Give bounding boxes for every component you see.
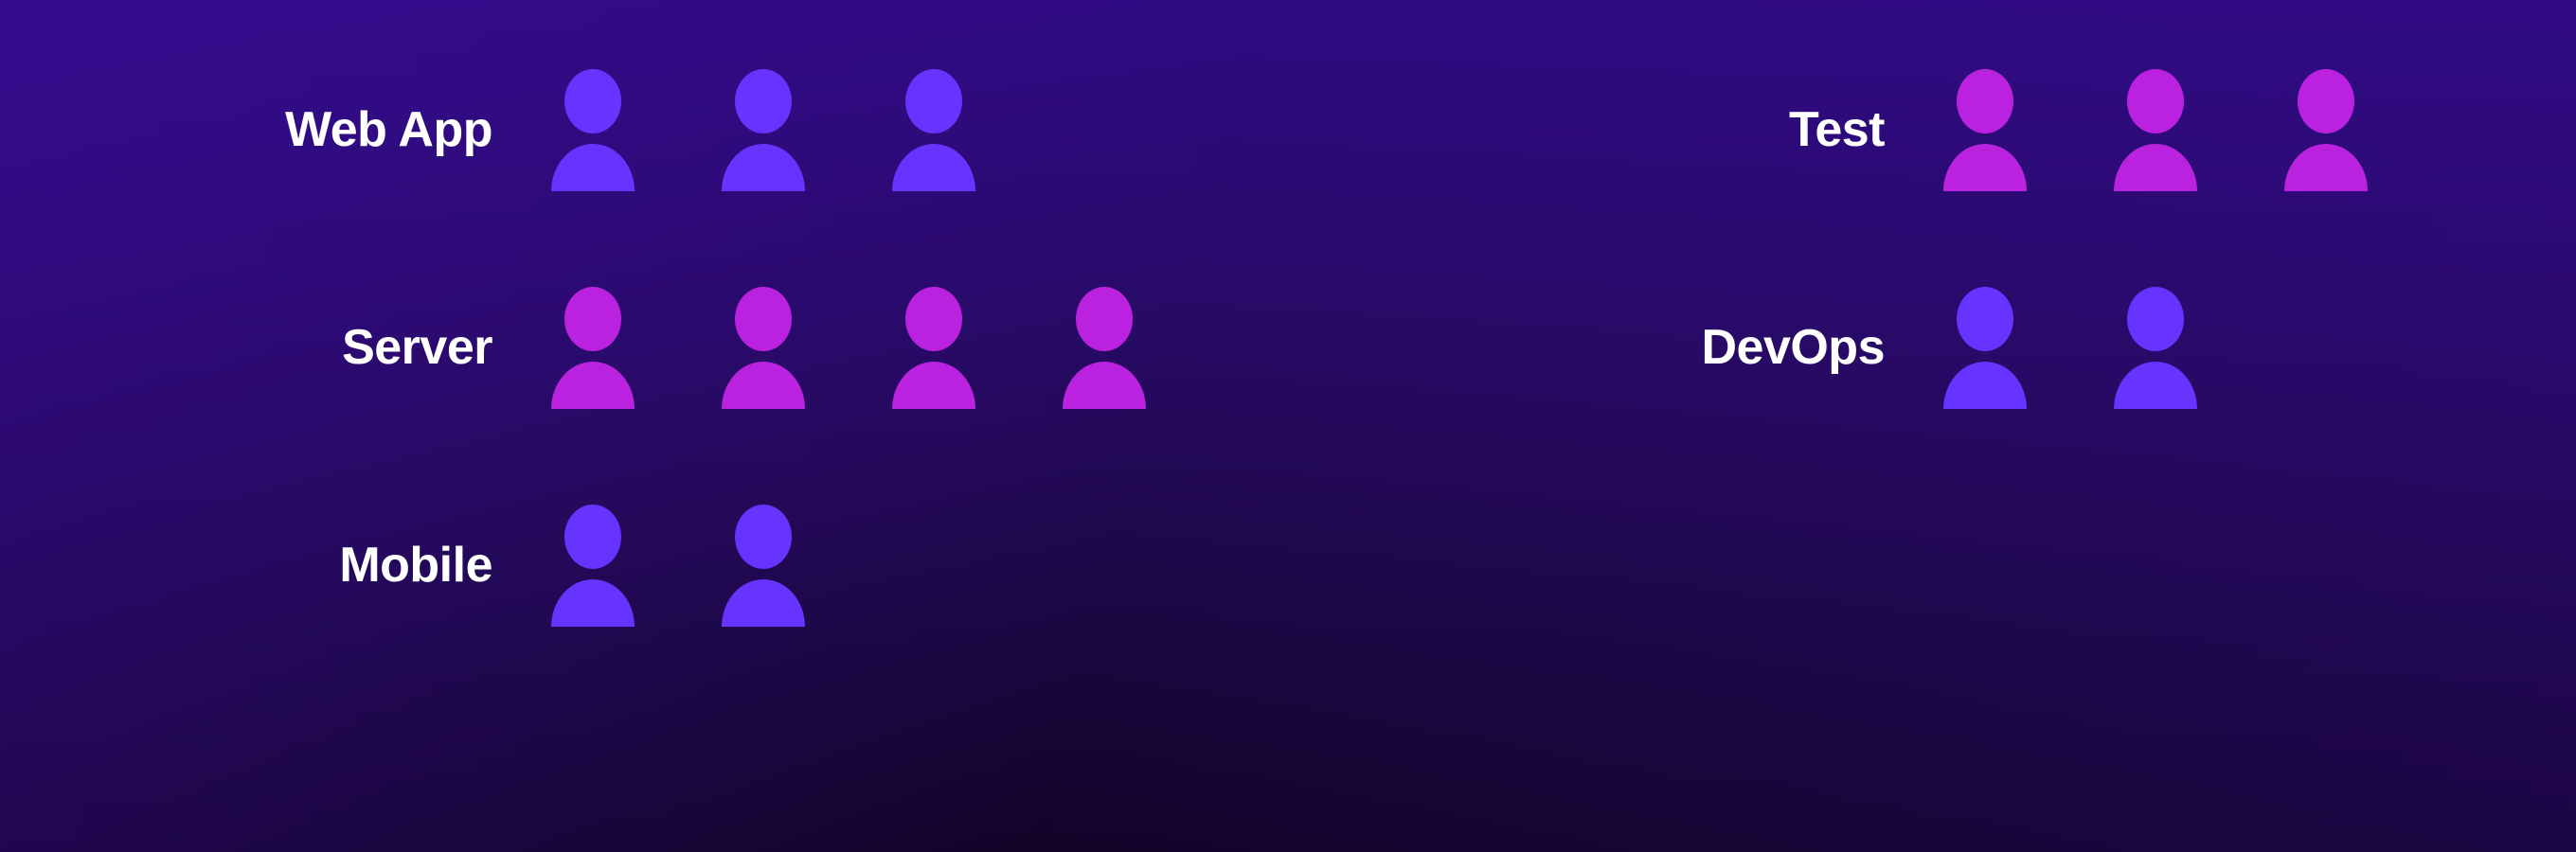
person-head — [2127, 287, 2184, 351]
person-head — [905, 69, 962, 133]
person-icon — [2112, 68, 2282, 191]
person-icon — [890, 68, 1061, 191]
person-body — [551, 144, 635, 191]
row-label: Test — [1601, 105, 1941, 154]
person-icon — [720, 68, 890, 191]
person-body — [722, 144, 805, 191]
person-body — [551, 579, 635, 627]
person-icon — [2112, 286, 2282, 409]
person-icon — [549, 68, 720, 191]
row-icons — [549, 286, 1231, 409]
person-icon — [720, 504, 890, 627]
person-glyph — [1941, 286, 2029, 409]
person-body — [722, 579, 805, 627]
pictogram-row: Mobile — [180, 504, 1231, 627]
person-head — [564, 287, 621, 351]
person-body — [2114, 144, 2197, 191]
person-body — [1943, 144, 2027, 191]
person-body — [1943, 362, 2027, 409]
group-left-group: Web App Server Mobile — [180, 68, 1231, 627]
row-label: DevOps — [1601, 323, 1941, 372]
person-icon — [2282, 68, 2453, 191]
person-icon — [720, 286, 890, 409]
person-icon — [1061, 286, 1231, 409]
person-head — [905, 287, 962, 351]
person-body — [1063, 362, 1146, 409]
person-body — [892, 144, 975, 191]
person-head — [1957, 69, 2013, 133]
row-icons — [549, 68, 1061, 191]
person-icon — [549, 286, 720, 409]
person-body — [722, 362, 805, 409]
person-head — [735, 505, 792, 569]
pictogram-row: Test — [1601, 68, 2453, 191]
row-label: Web App — [180, 105, 549, 154]
person-glyph — [720, 68, 807, 191]
person-glyph — [549, 68, 636, 191]
person-glyph — [549, 286, 636, 409]
pictogram-row: Web App — [180, 68, 1231, 191]
person-head — [1957, 287, 2013, 351]
row-icons — [1941, 68, 2453, 191]
row-icons — [549, 504, 890, 627]
person-head — [564, 505, 621, 569]
person-body — [2284, 144, 2368, 191]
person-icon — [890, 286, 1061, 409]
person-head — [735, 287, 792, 351]
person-head — [2127, 69, 2184, 133]
row-label: Server — [180, 323, 549, 372]
group-right-group: Test DevOps — [1601, 68, 2453, 409]
person-glyph — [2112, 68, 2199, 191]
person-glyph — [890, 68, 977, 191]
person-glyph — [890, 286, 977, 409]
person-head — [1076, 287, 1133, 351]
person-head — [2298, 69, 2354, 133]
person-body — [2114, 362, 2197, 409]
person-glyph — [2112, 286, 2199, 409]
person-icon — [549, 504, 720, 627]
person-glyph — [720, 504, 807, 627]
person-icon — [1941, 286, 2112, 409]
person-body — [892, 362, 975, 409]
row-label: Mobile — [180, 541, 549, 590]
person-glyph — [2282, 68, 2370, 191]
person-glyph — [720, 286, 807, 409]
pictogram-chart: Web App Server Mobile Test DevOps — [0, 0, 2576, 852]
row-icons — [1941, 286, 2282, 409]
person-glyph — [549, 504, 636, 627]
person-head — [735, 69, 792, 133]
person-head — [564, 69, 621, 133]
person-glyph — [1061, 286, 1148, 409]
pictogram-row: DevOps — [1601, 286, 2453, 409]
person-body — [551, 362, 635, 409]
person-icon — [1941, 68, 2112, 191]
pictogram-row: Server — [180, 286, 1231, 409]
person-glyph — [1941, 68, 2029, 191]
chart-groups: Web App Server Mobile Test DevOps — [0, 0, 2576, 852]
